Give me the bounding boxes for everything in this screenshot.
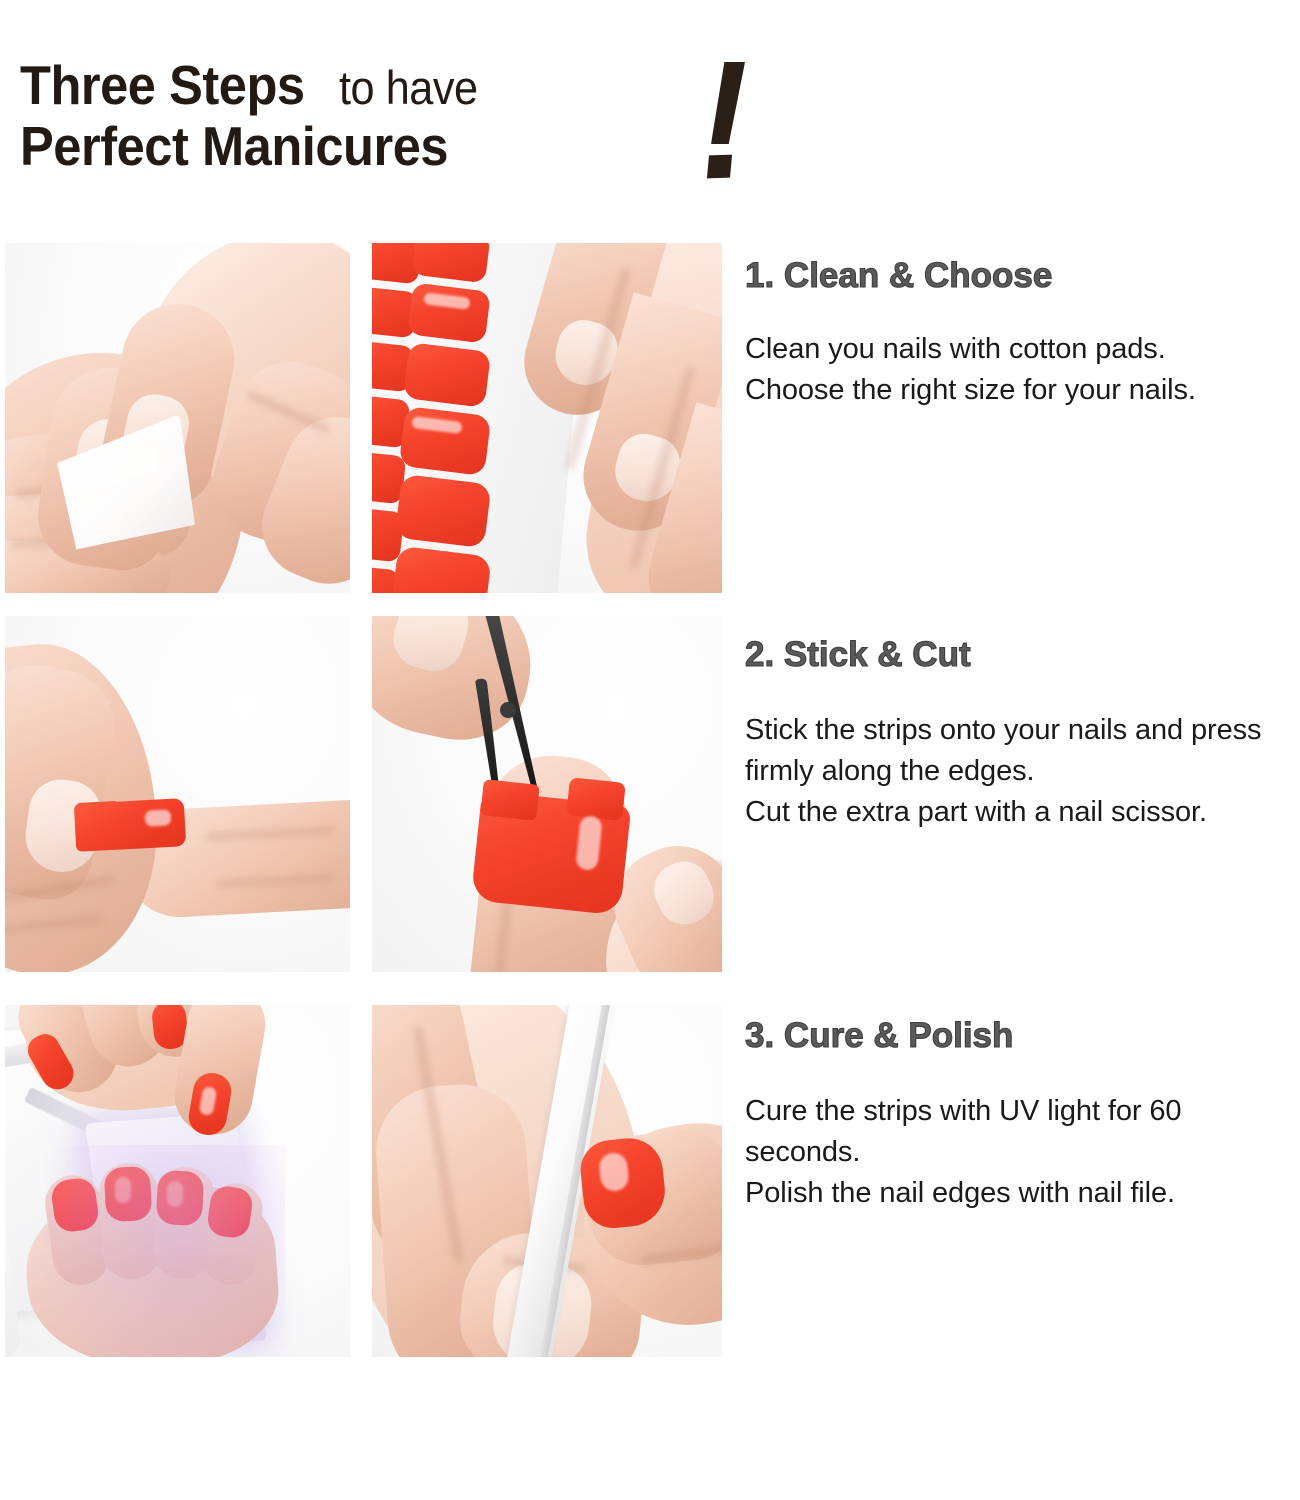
step-3: 3. Cure & Polish Cure the strips with UV… xyxy=(745,1018,1297,1214)
uv-nail-highlight xyxy=(115,1177,131,1203)
title-light-1: to have xyxy=(339,64,478,111)
nail-strip xyxy=(394,474,491,548)
step-3-heading: 3. Cure & Polish xyxy=(745,1018,1297,1055)
infographic-page: Three Stepsto have Perfect Manicures xyxy=(0,0,1300,1500)
nail-strip-excess-flap-2 xyxy=(566,777,626,821)
strip-highlight xyxy=(145,809,172,826)
step-2-body: Stick the strips onto your nails and pre… xyxy=(745,710,1297,834)
nail-strip xyxy=(403,342,491,408)
photo-pressing-strip-onto-nail xyxy=(5,616,350,972)
nail-strip xyxy=(399,406,492,476)
step-3-body: Cure the strips with UV light for 60 sec… xyxy=(745,1091,1297,1215)
title-line-1: Three Stepsto have xyxy=(20,58,780,113)
photo-hand-in-uv-lamp xyxy=(5,1005,350,1357)
photo-filing-nail-edge xyxy=(372,1005,722,1357)
step-1-body: Clean you nails with cotton pads. Choose… xyxy=(745,329,1297,411)
photo-hand-wiping-nail-with-cotton-pad xyxy=(5,243,350,593)
step-1-heading: 1. Clean & Choose xyxy=(745,258,1297,295)
nail-strip xyxy=(407,282,491,343)
title-strong-1: Three Steps xyxy=(20,58,305,113)
nail-strip-excess-flap xyxy=(480,779,539,821)
step-2-heading: 2. Stick & Cut xyxy=(745,637,1297,674)
exclamation-dot xyxy=(707,155,732,179)
page-title: Three Stepsto have Perfect Manicures xyxy=(20,58,780,208)
step-2: 2. Stick & Cut Stick the strips onto you… xyxy=(745,637,1297,833)
photo-nail-strip-sheet-with-hand xyxy=(372,243,722,593)
exclamation-mark-icon xyxy=(700,62,770,187)
title-line-2: Perfect Manicures xyxy=(20,119,780,174)
exclamation-stem xyxy=(711,62,745,144)
photo-trimming-strip-with-scissors xyxy=(372,616,722,972)
applied-nail-strip-main xyxy=(74,798,186,852)
title-strong-2: Perfect Manicures xyxy=(20,119,448,174)
uv-nail-highlight-2 xyxy=(167,1181,183,1207)
step-1: 1. Clean & Choose Clean you nails with c… xyxy=(745,258,1297,411)
